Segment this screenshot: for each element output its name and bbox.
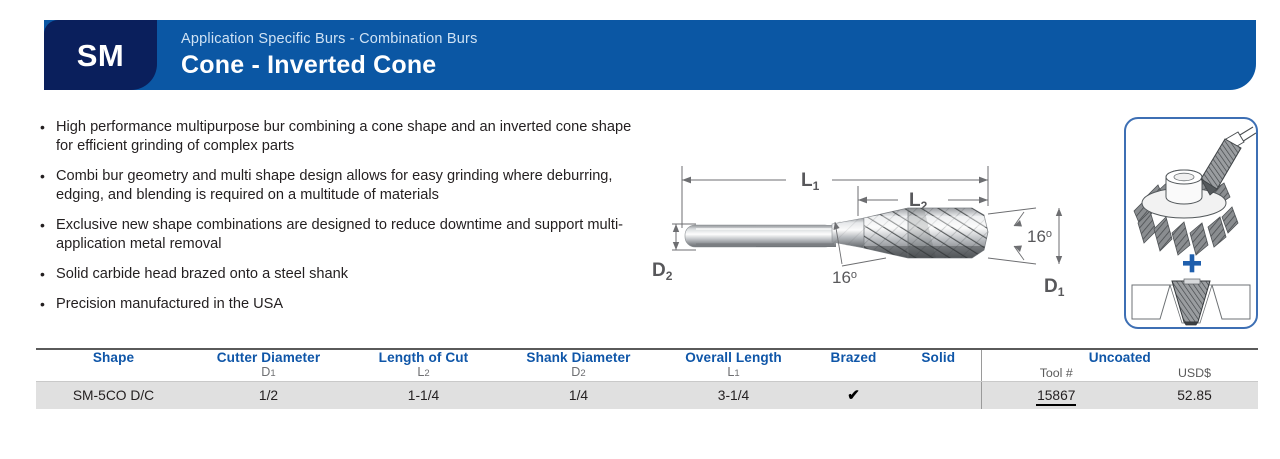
bullet-icon: • xyxy=(36,265,56,284)
column-subheader-tool-number: Tool # xyxy=(981,365,1131,382)
column-header-length-of-cut: Length of Cut xyxy=(346,350,501,365)
column-header-shank-diameter: Shank Diameter xyxy=(501,350,656,365)
list-item: • Combi bur geometry and multi shape des… xyxy=(36,167,646,205)
diagram-label-angle-right: 16o xyxy=(1027,227,1052,246)
plus-icon xyxy=(1183,254,1201,272)
table-row: SM-5CO D/C 1/2 1-1/4 1/4 3-1/4 ✔ 15867 5… xyxy=(36,382,1258,410)
specifications-table: Shape Cutter Diameter Length of Cut Shan… xyxy=(36,348,1258,409)
diagram-label-D2: D2 xyxy=(652,260,673,283)
column-header-overall-length: Overall Length xyxy=(656,350,811,365)
chamfer-workpiece-illustration xyxy=(1132,279,1250,325)
column-subheader-shank-diameter: D2 xyxy=(501,365,656,382)
column-header-solid: Solid xyxy=(896,350,981,365)
product-header-banner: SM Application Specific Burs - Combinati… xyxy=(44,20,1256,90)
list-item: • Solid carbide head brazed onto a steel… xyxy=(36,265,646,284)
application-illustration-box xyxy=(1124,117,1258,329)
series-code-text: SM xyxy=(77,40,125,71)
diagram-label-angle-left: 16o xyxy=(832,268,857,287)
column-subheader-cutter-diameter: D1 xyxy=(191,365,346,382)
column-subheader-overall-length: L1 xyxy=(656,365,811,382)
cell-length-of-cut: 1-1/4 xyxy=(346,382,501,410)
cell-brazed: ✔ xyxy=(811,382,896,410)
cell-price: 52.85 xyxy=(1131,382,1258,410)
column-subheader-shape xyxy=(36,365,191,382)
header-title-group: Application Specific Burs - Combination … xyxy=(157,20,478,90)
cell-tool-number[interactable]: 15867 xyxy=(981,382,1131,410)
gear-workpiece-illustration xyxy=(1134,127,1256,255)
bullet-icon: • xyxy=(36,295,56,314)
cell-shape: SM-5CO D/C xyxy=(36,382,191,410)
feature-list: • High performance multipurpose bur comb… xyxy=(36,118,646,325)
bur-tool-illustration xyxy=(1201,127,1256,195)
cell-overall-length: 3-1/4 xyxy=(656,382,811,410)
column-subheader-length-of-cut: L2 xyxy=(346,365,501,382)
diagram-label-L1: L1 xyxy=(801,170,820,193)
list-item: • Precision manufactured in the USA xyxy=(36,295,646,314)
column-subheader-solid xyxy=(896,365,981,382)
cell-shank-diameter: 1/4 xyxy=(501,382,656,410)
cell-solid xyxy=(896,382,981,410)
bullet-icon: • xyxy=(36,216,56,254)
cell-cutter-diameter: 1/2 xyxy=(191,382,346,410)
list-item: • Exclusive new shape combinations are d… xyxy=(36,216,646,254)
column-subheader-brazed xyxy=(811,365,896,382)
column-header-shape: Shape xyxy=(36,350,191,365)
page-title: Cone - Inverted Cone xyxy=(181,50,478,80)
column-subheader-price: USD$ xyxy=(1131,365,1258,382)
feature-text: Exclusive new shape combinations are des… xyxy=(56,216,646,254)
feature-text: Precision manufactured in the USA xyxy=(56,295,283,314)
column-group-header-uncoated: Uncoated xyxy=(981,350,1258,365)
column-header-brazed: Brazed xyxy=(811,350,896,365)
list-item: • High performance multipurpose bur comb… xyxy=(36,118,646,156)
feature-text: Solid carbide head brazed onto a steel s… xyxy=(56,265,348,284)
bullet-icon: • xyxy=(36,167,56,205)
tool-number-link[interactable]: 15867 xyxy=(1036,387,1076,406)
series-code-badge: SM xyxy=(44,20,157,90)
diagram-label-D1: D1 xyxy=(1044,276,1065,299)
bullet-icon: • xyxy=(36,118,56,156)
breadcrumb-category: Application Specific Burs - Combination … xyxy=(181,30,478,50)
feature-text: Combi bur geometry and multi shape desig… xyxy=(56,167,646,205)
checkmark-icon: ✔ xyxy=(847,387,860,404)
feature-text: High performance multipurpose bur combin… xyxy=(56,118,646,156)
technical-dimension-diagram: L1 L2 D2 xyxy=(636,158,1106,308)
column-header-cutter-diameter: Cutter Diameter xyxy=(191,350,346,365)
